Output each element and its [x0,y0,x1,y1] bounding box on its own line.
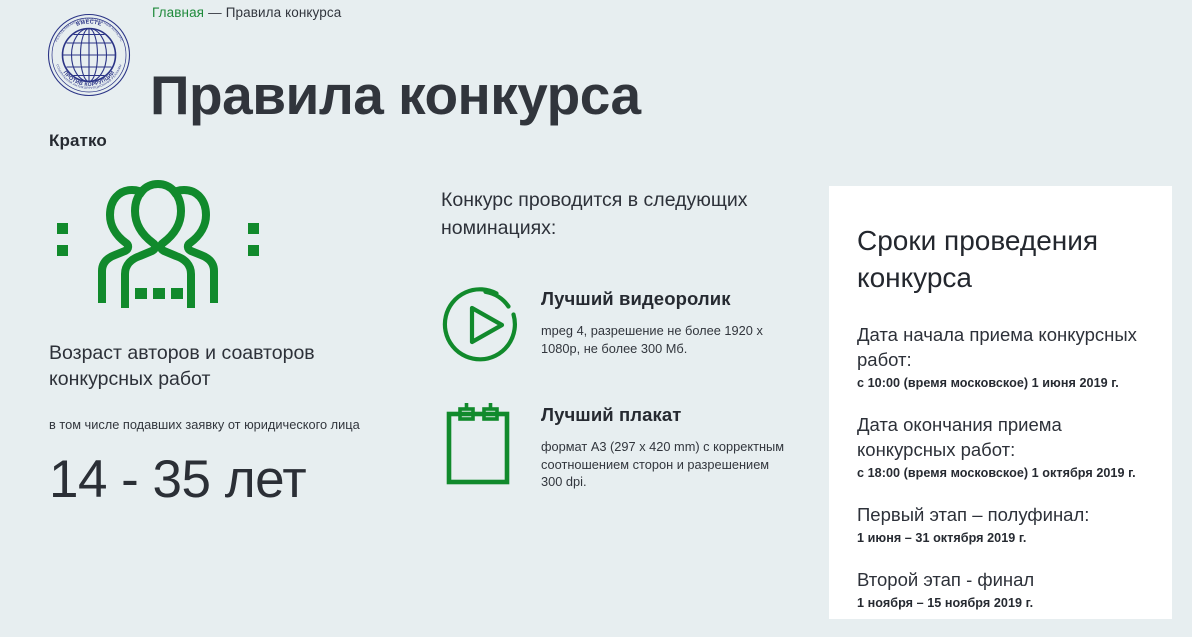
breadcrumb-separator: — [208,5,222,20]
play-circle-icon [441,280,523,366]
nominations-column: Конкурс проводится в следующих номинация… [441,186,796,521]
nomination-title: Лучший плакат [541,404,796,426]
age-range-value: 14 - 35 лет [49,450,394,510]
age-heading: Возраст авторов и соавторов конкурсных р… [49,340,369,392]
nomination-title: Лучший видеоролик [541,288,796,310]
term-label: Второй этап - финал [857,567,1138,592]
nomination-video: Лучший видеоролик mpeg 4, разрешение не … [441,280,796,366]
age-summary-column: Возраст авторов и соавторов конкурсных р… [49,175,394,510]
page-header: ВМЕСТЕ ПРОТИВ КОРРУПЦИИ РЕСПУБЛИКАНСКИЙ … [0,0,1192,118]
nominations-intro: Конкурс проводится в следующих номинация… [441,186,781,242]
term-label: Первый этап – полуфинал: [857,502,1138,527]
breadcrumb-current: Правила конкурса [226,5,342,20]
nomination-poster: Лучший плакат формат А3 (297 x 420 mm) с… [441,396,796,491]
term-value: с 10:00 (время московское) 1 июня 2019 г… [857,375,1138,392]
poster-clipboard-icon [441,396,523,488]
term-value: 1 июня – 31 октября 2019 г. [857,530,1138,547]
contest-schedule-card: Сроки проведения конкурса Дата начала пр… [829,186,1172,619]
contest-logo[interactable]: ВМЕСТЕ ПРОТИВ КОРРУПЦИИ РЕСПУБЛИКАНСКИЙ … [47,13,131,97]
schedule-term: Дата окончания приема конкурсных работ: … [857,412,1138,482]
term-label: Дата начала приема конкурсных работ: [857,322,1138,372]
page-title: Правила конкурса [150,64,641,126]
schedule-term: Дата начала приема конкурсных работ: с 1… [857,322,1138,392]
term-label: Дата окончания приема конкурсных работ: [857,412,1138,462]
age-subnote: в том числе подавших заявку от юридическ… [49,416,394,434]
term-value: 1 ноября – 15 ноября 2019 г. [857,595,1138,612]
schedule-card-title: Сроки проведения конкурса [857,222,1138,296]
nomination-description: формат А3 (297 x 420 mm) с корректным со… [541,438,789,491]
term-value: с 18:00 (время московское) 1 октября 201… [857,465,1138,482]
section-label-kratko: Кратко [49,131,107,151]
breadcrumb-home-link[interactable]: Главная [152,5,204,20]
schedule-term: Первый этап – полуфинал: 1 июня – 31 окт… [857,502,1138,547]
nomination-description: mpeg 4, разрешение не более 1920 x 1080p… [541,322,789,357]
three-people-icon [49,175,267,312]
schedule-term: Второй этап - финал 1 ноября – 15 ноября… [857,567,1138,612]
logo-emblem-icon: ВМЕСТЕ ПРОТИВ КОРРУПЦИИ РЕСПУБЛИКАНСКИЙ … [47,13,131,97]
breadcrumb: Главная—Правила конкурса [152,4,341,22]
